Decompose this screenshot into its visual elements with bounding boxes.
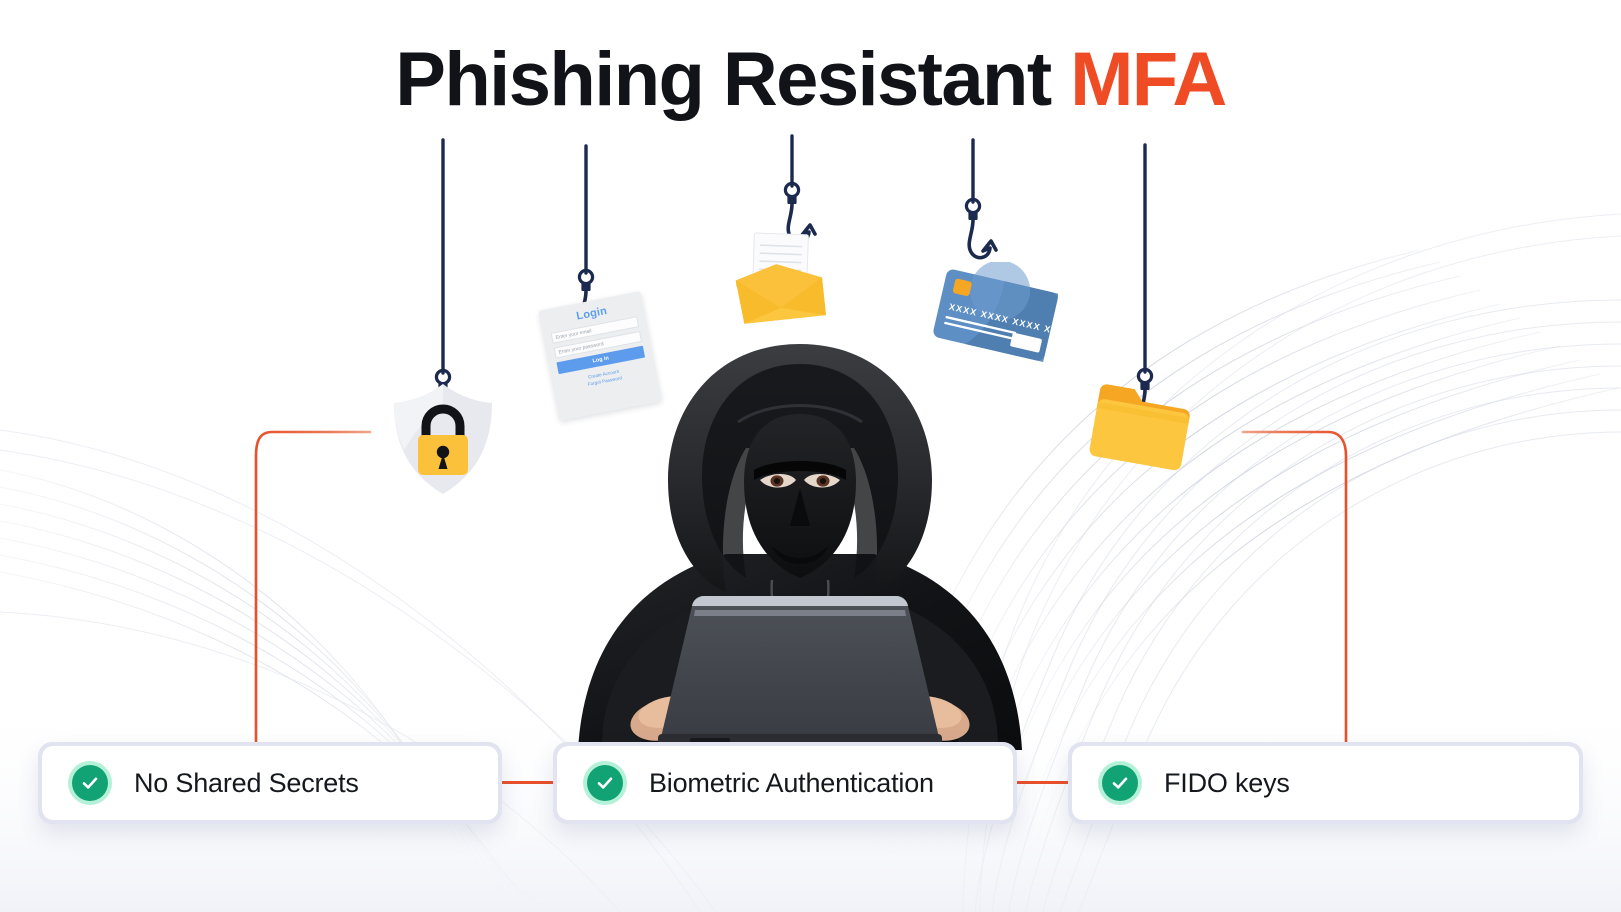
feature-card-inner: FIDO keys [1072,746,1579,820]
illustration-canvas: Phishing Resistant MFA [0,0,1621,912]
check-circle-icon [583,761,627,805]
envelope-icon [721,223,835,337]
feature-label: FIDO keys [1164,768,1290,799]
envelope-bait [721,223,835,337]
check-mark-icon [595,773,615,793]
feature-card-inner: No Shared Secrets [42,746,498,820]
page-title-main: Phishing Resistant [395,37,1070,122]
check-circle-fill [72,765,108,801]
check-circle-fill [1102,765,1138,801]
check-circle-icon [1098,761,1142,805]
fish-hook-4 [966,199,996,257]
check-mark-icon [1110,773,1130,793]
hacker-illustration [540,330,1060,750]
feature-card-no-shared-secrets[interactable]: No Shared Secrets [38,742,502,824]
check-circle-fill [587,765,623,801]
feature-card-biometric-authentication[interactable]: Biometric Authentication [553,742,1017,824]
shield-lock-bait [388,380,498,498]
feature-card-fido-keys[interactable]: FIDO keys [1068,742,1583,824]
feature-label: Biometric Authentication [649,768,934,799]
shield-lock-icon [388,380,498,498]
folder-icon [1088,380,1196,476]
check-circle-icon [68,761,112,805]
check-mark-icon [80,773,100,793]
folder-bait [1088,380,1196,476]
feature-label: No Shared Secrets [134,768,359,799]
card-connector-right [1013,781,1073,784]
page-title: Phishing Resistant MFA [0,42,1621,118]
feature-card-inner: Biometric Authentication [557,746,1013,820]
card-connector-left [498,781,558,784]
page-title-accent: MFA [1070,37,1226,122]
